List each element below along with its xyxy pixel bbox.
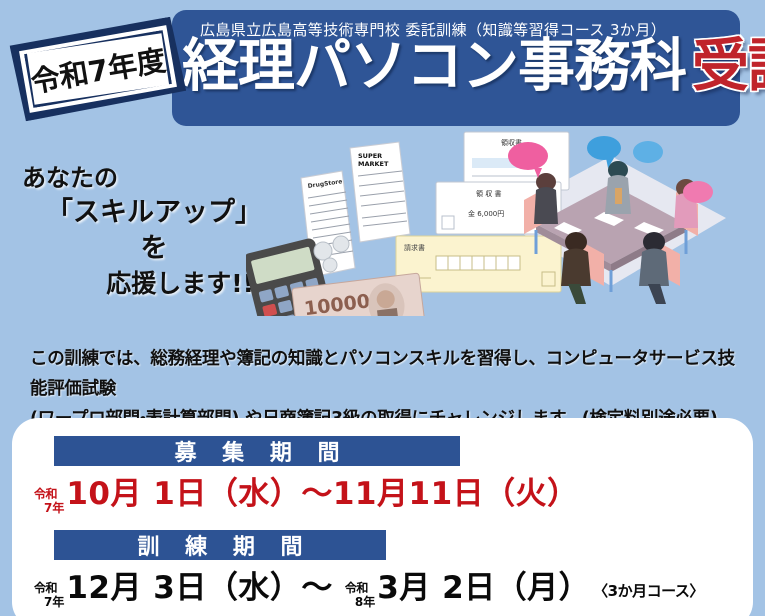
description-line-1: この訓練では、総務経理や簿記の知識とパソコンスキルを習得し、コンピュータサービス… bbox=[30, 344, 750, 404]
recruitment-date-range: 10月 1日（水）〜11月11日（火） bbox=[66, 468, 578, 513]
header-banner: 広島県立広島高等技術専門校 委託訓練（知識等習得コース 3か月） 経理パソコン事… bbox=[172, 10, 740, 126]
catch-copy-line-1: あなたの bbox=[18, 163, 268, 195]
person-front-left bbox=[561, 232, 591, 304]
recruitment-era-label: 令和 7年 bbox=[34, 488, 64, 514]
year-tag-label: 令和7年度 bbox=[8, 15, 187, 124]
catch-copy-line-2: 「スキルアップ」を bbox=[18, 195, 268, 267]
svg-text:MARKET: MARKET bbox=[358, 160, 389, 168]
training-era-end-label: 令和 8年 bbox=[345, 582, 375, 608]
recruitment-period-value: 令和 7年 10月 1日（水）〜11月11日（火） bbox=[34, 468, 579, 520]
receipt-supermarket-icon: SUPER MARKET bbox=[350, 142, 410, 242]
person-back-left bbox=[534, 173, 558, 224]
title-course-name: 経理パソコン事務科 bbox=[182, 33, 686, 99]
svg-text:金 6,000円: 金 6,000円 bbox=[468, 209, 504, 218]
training-period-heading: 訓 練 期 間 bbox=[54, 530, 386, 560]
poster-root: 広島県立広島高等技術専門校 委託訓練（知識等習得コース 3か月） 経理パソコン事… bbox=[0, 0, 765, 616]
year-tag: 令和7年度 bbox=[9, 16, 187, 122]
svg-text:領 収 書: 領 収 書 bbox=[476, 189, 501, 198]
illustration: DrugStore SUPER MARKET bbox=[246, 126, 746, 316]
svg-text:SUPER: SUPER bbox=[358, 152, 382, 160]
info-panel: 募 集 期 間 令和 7年 10月 1日（水）〜11月11日（火） 訓 練 期 … bbox=[12, 418, 753, 616]
training-period-value: 令和 7年 12月 3日（水）〜 令和 8年 3月 2日（月） 〈3か月コース〉 bbox=[34, 562, 704, 614]
person-front-right bbox=[639, 232, 669, 304]
catch-copy-line-3: 応援します!! bbox=[18, 267, 268, 300]
recruitment-period-heading: 募 集 期 間 bbox=[54, 436, 460, 466]
svg-text:請求書: 請求書 bbox=[404, 243, 425, 252]
training-era-start-label: 令和 7年 bbox=[34, 582, 64, 608]
person-back-center bbox=[605, 161, 631, 214]
training-start-date: 12月 3日（水）〜 bbox=[66, 562, 333, 607]
illustration-svg: DrugStore SUPER MARKET bbox=[246, 126, 746, 316]
training-course-length-note: 〈3か月コース〉 bbox=[590, 580, 704, 601]
training-end-date: 3月 2日（月） bbox=[377, 562, 590, 607]
banner-title: 経理パソコン事務科受講生募集 bbox=[182, 38, 765, 95]
catch-copy: あなたの 「スキルアップ」を 応援します!! bbox=[18, 163, 268, 300]
title-recruiting: 受講生募集 bbox=[692, 33, 765, 99]
